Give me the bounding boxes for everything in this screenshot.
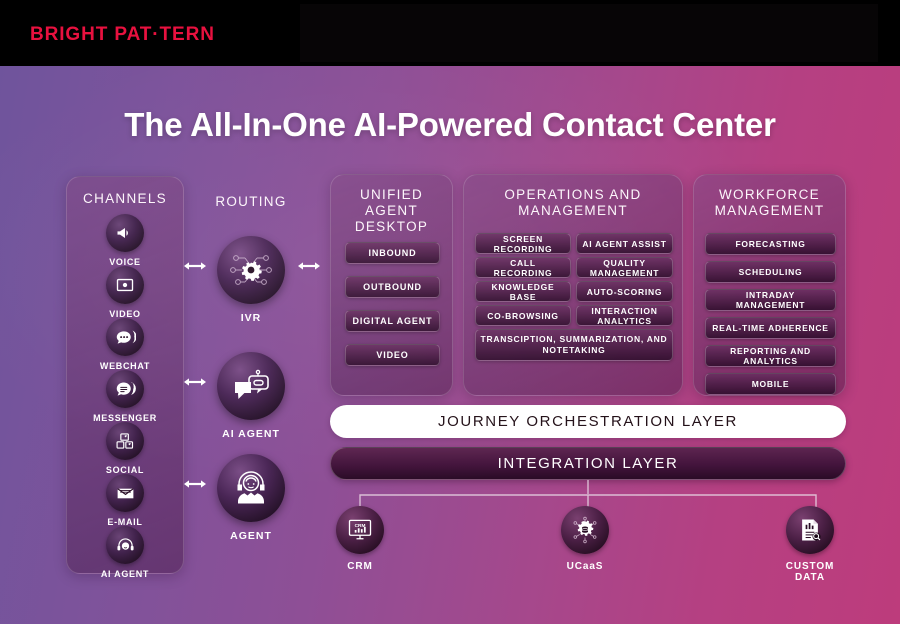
integration-item-crm[interactable]: CRM CRM <box>325 506 395 572</box>
routing-label: AGENT <box>216 530 286 542</box>
gear-network-icon <box>217 236 285 304</box>
operations-management-panel: OPERATIONS AND MANAGEMENT SCREEN RECORDI… <box>463 174 683 396</box>
crm-monitor-icon: CRM <box>336 506 384 554</box>
routing-column-title: ROUTING <box>198 194 304 210</box>
page-title: The All-In-One AI-Powered Contact Center <box>0 106 900 144</box>
megaphone-icon <box>106 214 144 252</box>
arrow-channels-to-ai-agent <box>182 376 208 388</box>
integration-layer-bar[interactable]: INTEGRATION LAYER <box>330 447 846 480</box>
ops-chip-knowledge-base[interactable]: KNOWLEDGE BASE <box>475 281 571 302</box>
ops-chip-screen-recording[interactable]: SCREEN RECORDING <box>475 233 571 254</box>
channel-item-video[interactable]: VIDEO <box>86 266 164 319</box>
uad-chip-inbound[interactable]: INBOUND <box>345 242 440 264</box>
wfm-chip-reporting-and-analytics[interactable]: REPORTING AND ANALYTICS <box>705 345 836 367</box>
brand-logo: BRIGHT PAT·TERN <box>30 24 215 46</box>
svg-text:CRM: CRM <box>355 523 366 529</box>
header-bar: BRIGHT PAT·TERN <box>0 0 900 66</box>
ops-chip-interaction-analytics[interactable]: INTERACTION ANALYTICS <box>576 305 673 326</box>
ops-chip-co-browsing[interactable]: CO-BROWSING <box>475 305 571 326</box>
channels-panel-title: CHANNELS <box>67 191 183 207</box>
channel-item-messenger[interactable]: MESSENGER <box>86 370 164 423</box>
ops-chip-auto-scoring[interactable]: AUTO-SCORING <box>576 281 673 302</box>
slide-body: The All-In-One AI-Powered Contact Center… <box>0 66 900 624</box>
integration-item-custom-data[interactable]: CUSTOM DATA <box>775 506 845 583</box>
integration-label: CRM <box>325 561 395 572</box>
infographic-slide: BRIGHT PAT·TERN The All-In-One AI-Powere… <box>0 0 900 624</box>
uad-chip-video[interactable]: VIDEO <box>345 344 440 366</box>
headset-bot-icon <box>106 526 144 564</box>
routing-label: IVR <box>216 312 286 324</box>
ops-chip-call-recording[interactable]: CALL RECORDING <box>475 257 571 278</box>
bot-chat-icon <box>217 352 285 420</box>
ucaas-network-icon <box>561 506 609 554</box>
channel-item-webchat[interactable]: WEBCHAT <box>86 318 164 371</box>
operations-management-title: OPERATIONS AND MANAGEMENT <box>464 187 682 219</box>
header-inset-panel <box>300 4 878 62</box>
social-hearts-icon <box>106 422 144 460</box>
workforce-management-panel: WORKFORCE MANAGEMENT FORECASTING SCHEDUL… <box>693 174 846 396</box>
integration-label: UCaaS <box>550 561 620 572</box>
wfm-chip-mobile[interactable]: MOBILE <box>705 373 836 395</box>
messenger-bubble-icon <box>106 370 144 408</box>
arrow-ivr-to-desktop <box>296 260 322 272</box>
uad-chip-digital-agent[interactable]: DIGITAL AGENT <box>345 310 440 332</box>
arrow-channels-to-ivr <box>182 260 208 272</box>
routing-item-agent[interactable]: AGENT <box>216 454 286 542</box>
journey-orchestration-layer-bar[interactable]: JOURNEY ORCHESTRATION LAYER <box>330 405 846 438</box>
ops-chip-ai-agent-assist[interactable]: AI AGENT ASSIST <box>576 233 673 254</box>
integration-item-ucaas[interactable]: UCaaS <box>550 506 620 572</box>
wfm-chip-scheduling[interactable]: SCHEDULING <box>705 261 836 283</box>
channel-label: AI AGENT <box>86 569 164 579</box>
routing-label: AI AGENT <box>216 428 286 440</box>
ops-chip-transcription-summarization[interactable]: TRANSCIPTION, SUMMARIZATION, AND NOTETAK… <box>475 329 673 361</box>
channel-item-email[interactable]: E-MAIL <box>86 474 164 527</box>
channel-item-voice[interactable]: VOICE <box>86 214 164 267</box>
routing-item-ivr[interactable]: IVR <box>216 236 286 324</box>
wfm-chip-forecasting[interactable]: FORECASTING <box>705 233 836 255</box>
document-chart-icon <box>786 506 834 554</box>
ops-chip-quality-management[interactable]: QUALITY MANAGEMENT <box>576 257 673 278</box>
envelope-icon <box>106 474 144 512</box>
chat-bubble-dots-icon <box>106 318 144 356</box>
integration-label: CUSTOM DATA <box>775 561 845 583</box>
unified-agent-desktop-title: UNIFIED AGENT DESKTOP <box>331 187 452 235</box>
arrow-channels-to-agent <box>182 478 208 490</box>
workforce-management-title: WORKFORCE MANAGEMENT <box>694 187 845 219</box>
wfm-chip-intraday-management[interactable]: INTRADAY MANAGEMENT <box>705 289 836 311</box>
video-window-icon <box>106 266 144 304</box>
routing-item-ai-agent[interactable]: AI AGENT <box>216 352 286 440</box>
uad-chip-outbound[interactable]: OUTBOUND <box>345 276 440 298</box>
unified-agent-desktop-panel: UNIFIED AGENT DESKTOP INBOUND OUTBOUND D… <box>330 174 453 396</box>
wfm-chip-real-time-adherence[interactable]: REAL-TIME ADHERENCE <box>705 317 836 339</box>
channel-item-social[interactable]: SOCIAL <box>86 422 164 475</box>
channel-item-ai-agent[interactable]: AI AGENT <box>86 526 164 579</box>
agent-person-icon <box>217 454 285 522</box>
